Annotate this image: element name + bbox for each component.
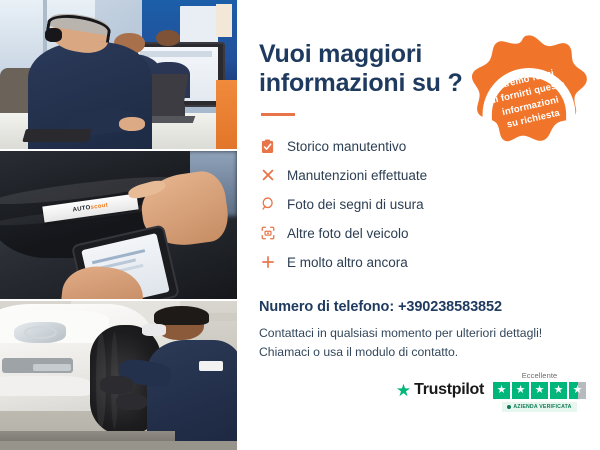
rating-star-filled: ★ bbox=[493, 382, 510, 399]
headline-line-2: informazioni su ? bbox=[259, 69, 463, 97]
content-panel: Saremo felici di fornirti queste informa… bbox=[237, 0, 600, 450]
list-item: E molto altro ancora bbox=[261, 248, 578, 277]
wrench-cross-icon bbox=[261, 168, 287, 182]
page-title: Vuoi maggiori informazioni su ? bbox=[259, 40, 464, 99]
list-item-label: Storico manutentivo bbox=[287, 139, 406, 154]
mechanic-glove-lower bbox=[116, 394, 147, 410]
photo-vehicle-inspection-sticker-tablet: AUTOscout bbox=[0, 151, 237, 300]
sticker-label: AUTOscout bbox=[72, 202, 108, 213]
phone-number-line: Numero di telefono: +390238583852 bbox=[259, 299, 578, 315]
mechanic-face-mask bbox=[142, 324, 166, 336]
headlight-ring bbox=[24, 326, 57, 339]
monitor-screen-toolbar bbox=[140, 51, 213, 57]
photo-mechanic-inspecting-wheel-on-lift bbox=[0, 301, 237, 450]
list-item: Altre foto del veicolo bbox=[261, 219, 578, 248]
trustpilot-star-rating: ★ ★ ★ ★ ★ bbox=[493, 382, 586, 399]
trustpilot-rating-label: Eccellente bbox=[522, 371, 558, 380]
trustpilot-logo: ★ Trustpilot bbox=[396, 371, 484, 399]
verified-check-icon bbox=[507, 405, 511, 409]
trustpilot-rating-block: Eccellente ★ ★ ★ ★ ★ AZIENDA VERIFICATA bbox=[493, 371, 586, 412]
clipboard-check-icon bbox=[261, 139, 287, 154]
star-icon: ★ bbox=[396, 382, 411, 399]
garage-floor bbox=[0, 441, 237, 450]
magnifier-icon bbox=[261, 197, 287, 211]
car-headlight bbox=[14, 322, 66, 343]
list-item-label: Foto dei segni di usura bbox=[287, 197, 424, 212]
promo-starburst-badge: Saremo felici di fornirti queste informa… bbox=[470, 33, 588, 151]
photo-column: AUTOscout bbox=[0, 0, 237, 450]
trustpilot-widget[interactable]: ★ Trustpilot Eccellente ★ ★ ★ ★ ★ AZIEND… bbox=[396, 371, 586, 412]
rating-star-filled: ★ bbox=[512, 382, 529, 399]
contact-line-1: Contattaci in qualsiasi momento per ulte… bbox=[259, 324, 578, 343]
list-item-label: Manutenzioni effettuate bbox=[287, 168, 427, 183]
wall-poster bbox=[180, 6, 218, 45]
photo-call-center-agents-with-headsets bbox=[0, 0, 237, 149]
desk-tablet bbox=[22, 129, 92, 142]
trustpilot-brand-name: Trustpilot bbox=[414, 381, 484, 399]
verified-badge-label: AZIENDA VERIFICATA bbox=[513, 404, 571, 410]
car-bumper bbox=[0, 376, 90, 397]
phone-number[interactable]: +390238583852 bbox=[398, 299, 502, 315]
verified-business-badge: AZIENDA VERIFICATA bbox=[502, 402, 576, 412]
car-fog-light bbox=[33, 364, 71, 371]
rating-star-partial: ★ bbox=[569, 382, 586, 399]
wall-poster-secondary bbox=[216, 4, 233, 37]
foreground-agent-hand bbox=[119, 117, 145, 130]
list-item-label: Altre foto del veicolo bbox=[287, 226, 409, 241]
headset-earcup bbox=[45, 28, 62, 41]
title-divider bbox=[261, 113, 295, 116]
mechanic-hair bbox=[154, 306, 209, 325]
contact-instructions: Contattaci in qualsiasi momento per ulte… bbox=[259, 324, 578, 363]
plus-icon bbox=[261, 255, 287, 269]
mechanic-glove-upper bbox=[100, 376, 133, 394]
camera-frame-icon bbox=[261, 226, 287, 240]
phone-label: Numero di telefono: bbox=[259, 299, 394, 315]
rating-star-filled: ★ bbox=[550, 382, 567, 399]
headline-line-1: Vuoi maggiori bbox=[259, 40, 422, 68]
background-colleague-two-head bbox=[156, 30, 180, 46]
promo-banner: AUTOscout bbox=[0, 0, 600, 450]
orange-equipment-edge bbox=[216, 80, 237, 148]
uniform-logo-patch bbox=[199, 361, 223, 371]
contact-line-2: Chiamaci o usa il modulo di contatto. bbox=[259, 343, 578, 362]
list-item-label: E molto altro ancora bbox=[287, 255, 408, 270]
list-item: Foto dei segni di usura bbox=[261, 190, 578, 219]
rating-star-filled: ★ bbox=[531, 382, 548, 399]
